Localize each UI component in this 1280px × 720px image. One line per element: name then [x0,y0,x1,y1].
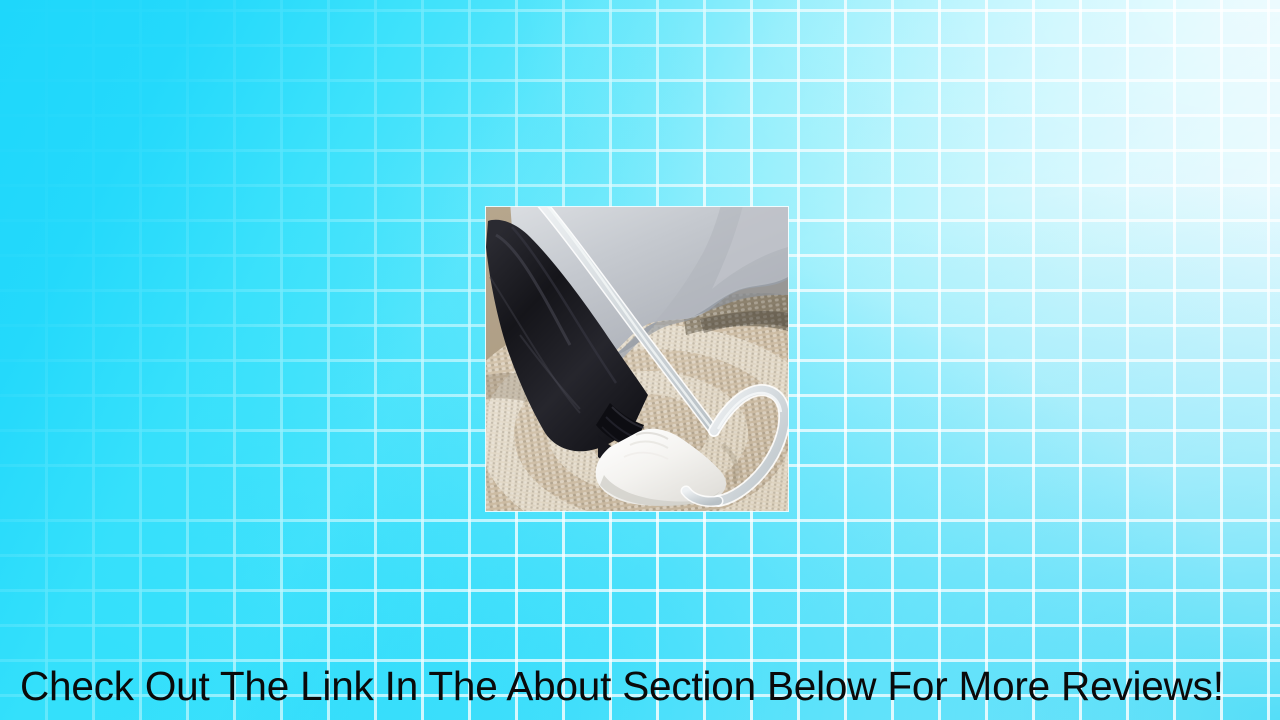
caption-text: Check Out The Link In The About Section … [20,655,1264,717]
product-photo [486,207,788,511]
product-photo-illustration [486,207,788,511]
screenshot-stage: Check Out The Link In The About Section … [0,0,1280,720]
